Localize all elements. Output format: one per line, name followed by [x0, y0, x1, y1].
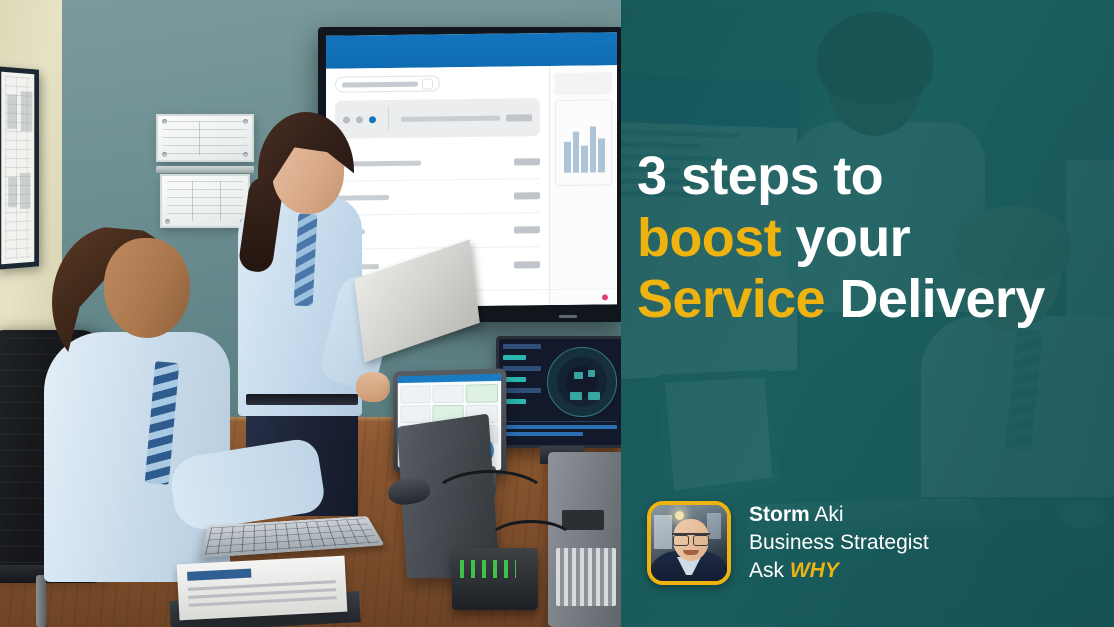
- board-screw: [243, 152, 248, 157]
- document-stack: [177, 556, 348, 621]
- poster-block: [21, 91, 32, 131]
- pos-cell: [401, 405, 431, 423]
- document-line: [189, 596, 337, 607]
- author-text: Storm Aki Business Strategist Ask WHY: [749, 501, 929, 584]
- author-title: Business Strategist: [749, 529, 929, 557]
- office-scene-photo: [0, 0, 621, 627]
- whiteboard-divider: [220, 181, 221, 221]
- app-list-row: [335, 145, 540, 182]
- board-screw: [162, 119, 167, 124]
- monitor-row: [503, 344, 541, 349]
- framed-blueprint-poster: [0, 66, 39, 270]
- monitor-row: [503, 366, 541, 371]
- radar-blip: [570, 392, 582, 400]
- whiteboard-divider: [199, 121, 200, 155]
- author-block: Storm Aki Business Strategist Ask WHY: [647, 501, 929, 585]
- row-value: [514, 261, 540, 268]
- document-accent-band: [187, 569, 251, 581]
- app-hero-row: [335, 98, 540, 139]
- chart-bar: [573, 132, 580, 173]
- chart-bar: [598, 138, 605, 172]
- whiteboard-upper: [156, 114, 254, 162]
- radar-graphic: [547, 347, 617, 417]
- pos-cell: [466, 384, 498, 403]
- headline-line-3-rest: Delivery: [825, 269, 1045, 329]
- avatar-window-light: [654, 515, 672, 549]
- chart-bar: [581, 146, 588, 173]
- whiteboard-tray: [156, 166, 254, 173]
- hero-tag: [506, 114, 532, 121]
- device-panel: [562, 510, 604, 530]
- app-list-row: [335, 179, 540, 216]
- poster-block: [20, 173, 31, 209]
- seated-woman-head: [104, 238, 190, 338]
- avatar: [647, 501, 731, 585]
- author-last-name: Aki: [810, 503, 844, 526]
- chart-bars: [564, 120, 605, 173]
- hero-divider: [388, 106, 389, 132]
- pill-icon: [422, 78, 433, 89]
- poster-block: [8, 177, 17, 207]
- chart-bar: [590, 127, 597, 173]
- row-value: [514, 226, 540, 233]
- monitor-row: [503, 388, 541, 393]
- pos-cell: [401, 385, 431, 403]
- side-card: [555, 72, 612, 95]
- radar-blip: [588, 392, 600, 400]
- headline: 3 steps to boost your Service Delivery: [637, 146, 1106, 331]
- radar-blip: [588, 370, 595, 377]
- monitor-row: [503, 425, 617, 429]
- monitor-row: [503, 377, 526, 382]
- headline-line-1: 3 steps to: [637, 146, 1106, 208]
- monitor-row: [503, 432, 583, 436]
- whiteboard-rows: [163, 121, 247, 155]
- standing-woman-belt: [246, 394, 358, 405]
- headline-accent-boost: boost: [637, 208, 781, 268]
- chart-bar: [564, 142, 571, 173]
- headline-accent-service: Service: [637, 269, 825, 329]
- footer-status-dot: [602, 294, 608, 300]
- headline-line-2-rest: your: [781, 208, 910, 268]
- author-tagline-accent: WHY: [790, 559, 839, 582]
- poster-block: [7, 94, 17, 129]
- author-tagline-prefix: Ask: [749, 559, 790, 582]
- whiteboard-lower: [160, 174, 250, 228]
- author-tagline: Ask WHY: [749, 557, 929, 585]
- headline-line-2: boost your: [637, 208, 1106, 270]
- pos-cell: [433, 385, 464, 403]
- office-chair-post: [36, 575, 46, 627]
- author-first-name: Storm: [749, 503, 810, 526]
- headline-line-3: Service Delivery: [637, 269, 1106, 331]
- promo-banner: 3 steps to boost your Service Delivery S…: [0, 0, 1114, 627]
- avatar-lamp-glow: [675, 511, 684, 520]
- avatar-glasses: [672, 533, 710, 542]
- app-side-column: [549, 65, 617, 305]
- monitor-bottom-panel: [503, 421, 617, 441]
- device-slot-strip: [556, 548, 616, 606]
- monitor-left-panel: [503, 344, 541, 419]
- status-dot: [343, 116, 350, 123]
- side-bar-chart: [555, 99, 612, 186]
- app-header-bar: [326, 32, 617, 69]
- row-value: [514, 192, 540, 199]
- row-value: [514, 158, 540, 165]
- status-dot-active: [369, 116, 376, 123]
- technical-dashboard-monitor: [496, 336, 621, 448]
- monitor-row: [503, 355, 526, 360]
- display-brand-mark: [559, 315, 577, 318]
- teal-content-panel: 3 steps to boost your Service Delivery S…: [621, 0, 1114, 627]
- board-screw: [162, 152, 167, 157]
- pill-text-placeholder: [342, 81, 418, 87]
- radar-blip: [574, 372, 583, 379]
- whiteboard-divider: [192, 181, 193, 221]
- desk-cable: [486, 520, 576, 564]
- avatar-smile: [683, 550, 699, 555]
- hero-line: [401, 115, 500, 121]
- app-search-pill: [335, 75, 440, 92]
- whiteboard-rows: [167, 181, 243, 221]
- monitor-row: [503, 399, 526, 404]
- device-led-strip: [460, 560, 516, 578]
- board-screw: [165, 219, 170, 224]
- author-name: Storm Aki: [749, 501, 929, 529]
- standing-woman-hand: [356, 372, 390, 402]
- board-screw: [243, 119, 248, 124]
- status-dot: [356, 116, 363, 123]
- app-list-row: [335, 213, 540, 250]
